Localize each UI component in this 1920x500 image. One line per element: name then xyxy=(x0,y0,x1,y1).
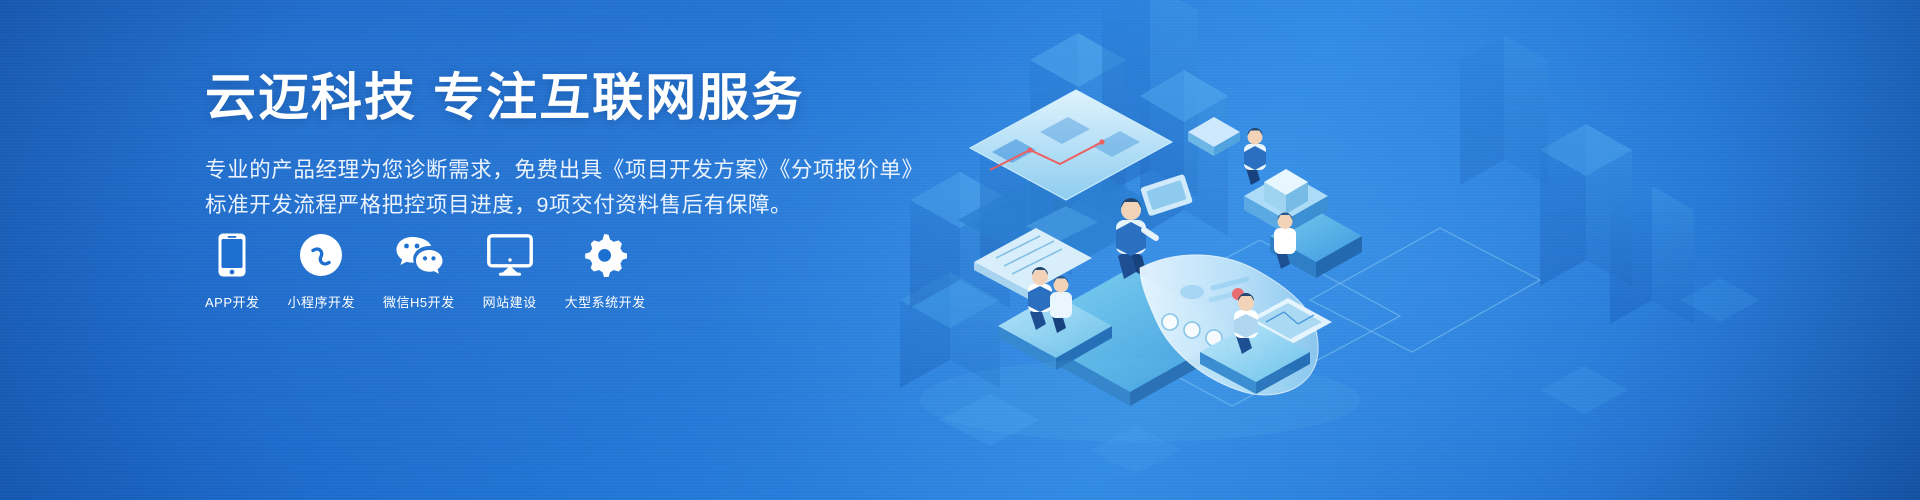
service-item-large-system[interactable]: 大型系统开发 xyxy=(565,232,646,311)
service-item-wechat[interactable]: 微信H5开发 xyxy=(383,232,455,311)
service-item-website[interactable]: 网站建设 xyxy=(483,232,537,311)
hero-banner: 云迈科技 专注互联网服务 专业的产品经理为您诊断需求，免费出具《项目开发方案》《… xyxy=(0,0,1920,500)
page-title: 云迈科技 专注互联网服务 xyxy=(205,68,905,128)
gear-icon xyxy=(583,232,627,278)
service-label: 大型系统开发 xyxy=(565,292,646,311)
service-label: 微信H5开发 xyxy=(383,292,455,311)
mobile-phone-icon xyxy=(217,232,247,278)
subtitle-line-2: 标准开发流程严格把控项目进度，9项交付资料售后有保障。 xyxy=(205,189,905,222)
service-label: 小程序开发 xyxy=(288,292,356,311)
service-item-mini-program[interactable]: 小程序开发 xyxy=(288,232,356,311)
monitor-icon xyxy=(487,232,533,278)
service-list: APP开发 小程序开发 微信 xyxy=(205,232,646,311)
isometric-tech-city-illustration xyxy=(840,0,1920,500)
wechat-icon xyxy=(395,232,443,278)
subtitle-line-1: 专业的产品经理为您诊断需求，免费出具《项目开发方案》《分项报价单》 xyxy=(205,154,905,187)
hero-copy: 云迈科技 专注互联网服务 专业的产品经理为您诊断需求，免费出具《项目开发方案》《… xyxy=(205,68,905,222)
service-item-app[interactable]: APP开发 xyxy=(205,232,260,311)
mini-program-icon xyxy=(299,232,343,278)
service-label: 网站建设 xyxy=(483,292,537,311)
service-label: APP开发 xyxy=(205,292,260,311)
